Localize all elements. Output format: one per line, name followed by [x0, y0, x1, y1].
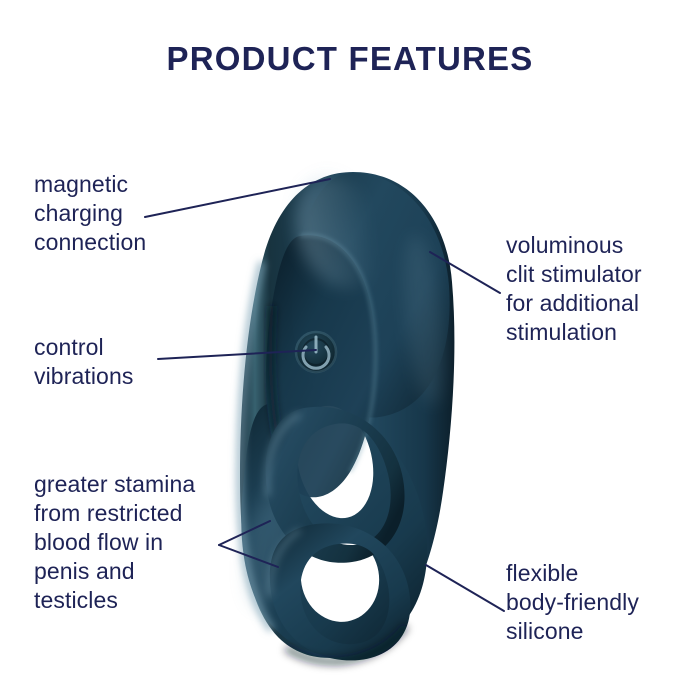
callout-line: testicles [34, 586, 195, 615]
callout-line: penis and [34, 557, 195, 586]
callout-line: charging [34, 199, 146, 228]
callout-line: from restricted [34, 499, 195, 528]
callout-line: magnetic [34, 170, 146, 199]
callout-line: connection [34, 228, 146, 257]
callout-line: voluminous [506, 231, 642, 260]
callout-line: control [34, 333, 133, 362]
callout-line: body-friendly [506, 588, 639, 617]
callout-line: flexible [506, 559, 639, 588]
callout-greater-stamina: greater stamina from restricted blood fl… [34, 470, 195, 615]
callout-line: blood flow in [34, 528, 195, 557]
callout-line: vibrations [34, 362, 133, 391]
callout-control-vibrations: control vibrations [34, 333, 133, 391]
callout-line: greater stamina [34, 470, 195, 499]
callout-line: clit stimulator [506, 260, 642, 289]
callout-line: for additional [506, 289, 642, 318]
callout-line: stimulation [506, 318, 642, 347]
infographic-canvas: PRODUCT FEATURES [0, 0, 700, 700]
callout-silicone: flexible body-friendly silicone [506, 559, 639, 646]
callout-line: silicone [506, 617, 639, 646]
callout-magnetic-charging: magnetic charging connection [34, 170, 146, 257]
power-button[interactable] [295, 331, 337, 373]
callout-clit-stimulator: voluminous clit stimulator for additiona… [506, 231, 642, 347]
